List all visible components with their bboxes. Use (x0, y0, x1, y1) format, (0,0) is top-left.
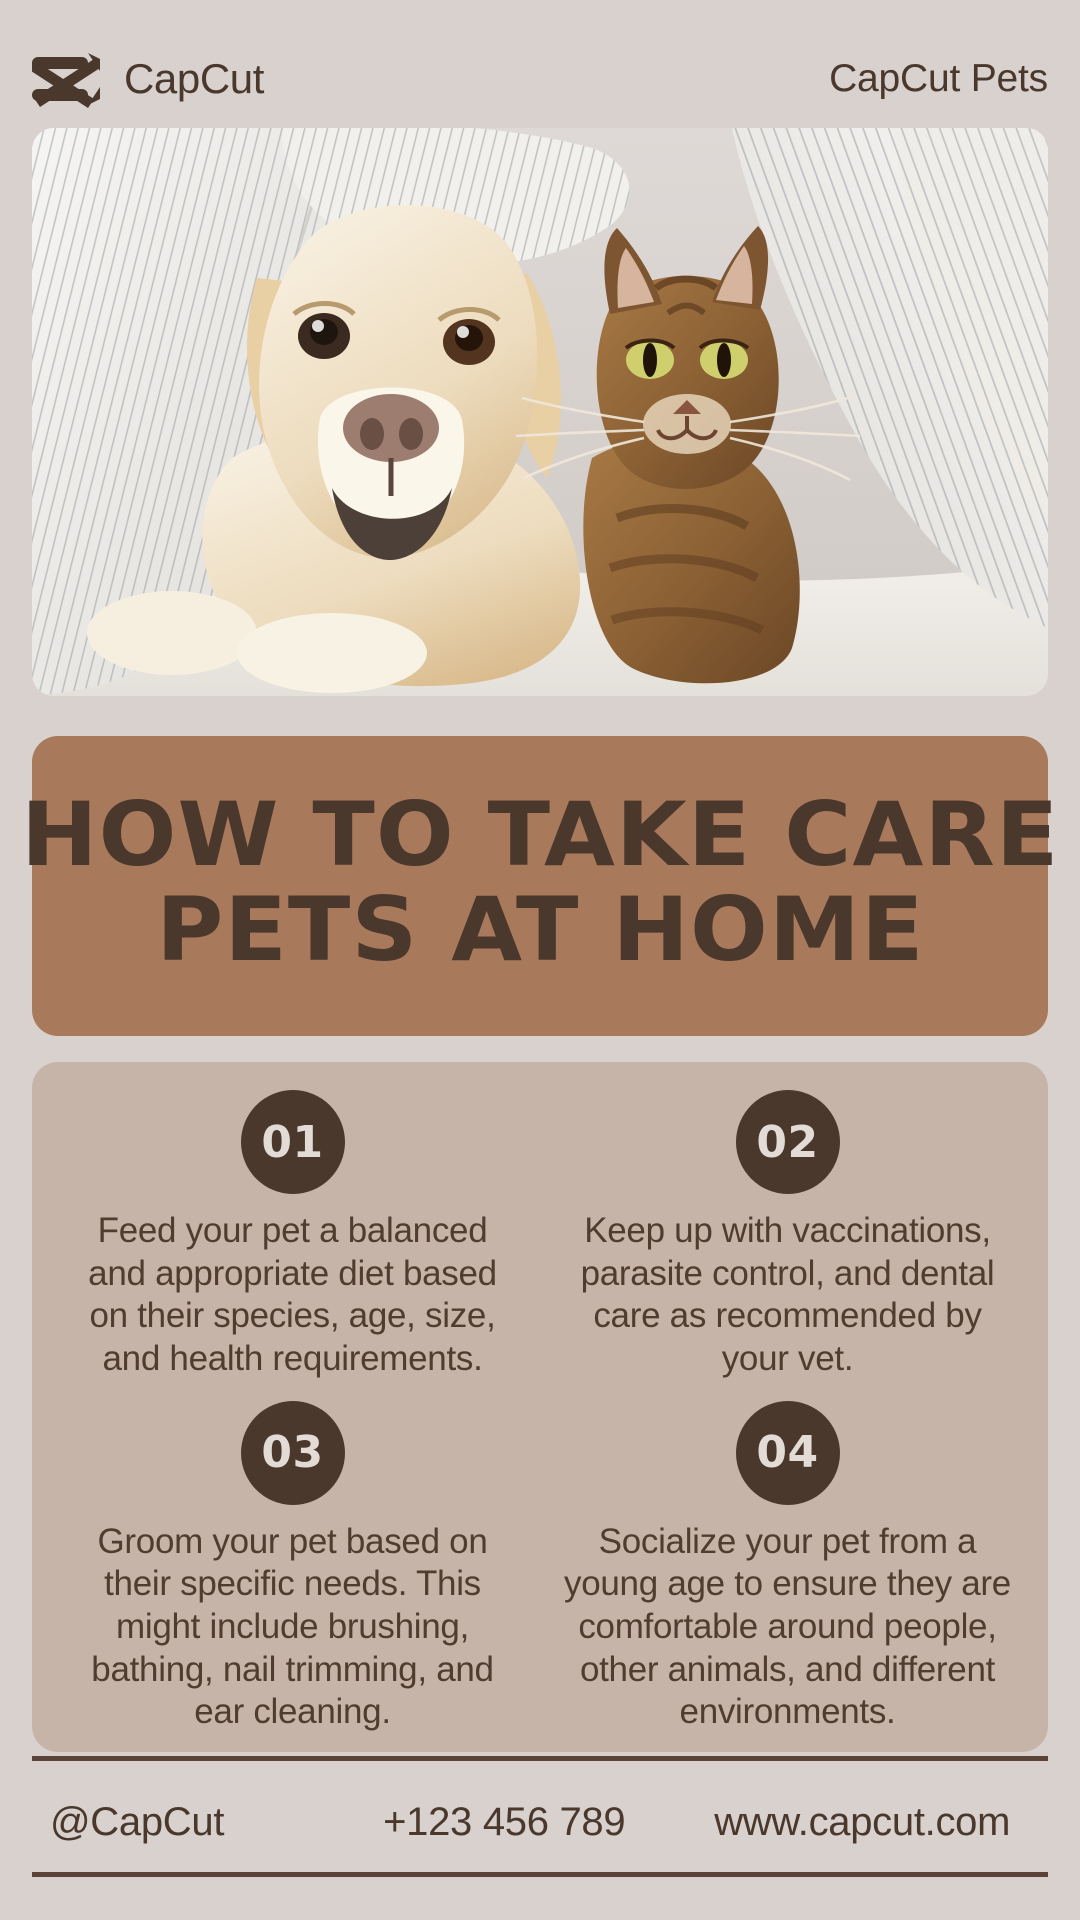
tip-number-badge: 02 (736, 1090, 840, 1194)
tips-card: 01 Feed your pet a balanced and appropri… (32, 1062, 1048, 1752)
infographic-poster: CapCut CapCut Pets (0, 0, 1080, 1920)
hero-photo (32, 128, 1048, 696)
title-banner: HOW TO TAKE CARE PETS AT HOME (32, 736, 1048, 1036)
tip-number-badge: 04 (736, 1401, 840, 1505)
tip-number-badge: 03 (241, 1401, 345, 1505)
brand-name: CapCut (124, 55, 264, 103)
title-line-1: HOW TO TAKE CARE (21, 787, 1059, 882)
tip-item-01: 01 Feed your pet a balanced and appropri… (50, 1090, 535, 1387)
footer-phone[interactable]: +123 456 789 (357, 1800, 682, 1845)
brand[interactable]: CapCut (32, 47, 264, 111)
capcut-logo-icon (32, 47, 104, 111)
tip-number-badge: 01 (241, 1090, 345, 1194)
tip-item-03: 03 Groom your pet based on their specifi… (50, 1401, 535, 1734)
tip-item-02: 02 Keep up with vaccinations, parasite c… (545, 1090, 1030, 1387)
tip-text: Groom your pet based on their specific n… (66, 1521, 519, 1734)
tip-item-04: 04 Socialize your pet from a young age t… (545, 1401, 1030, 1734)
header-right-label: CapCut Pets (829, 57, 1048, 101)
footer-handle[interactable]: @CapCut (32, 1800, 357, 1845)
header: CapCut CapCut Pets (32, 44, 1048, 114)
tip-text: Keep up with vaccinations, parasite cont… (561, 1210, 1014, 1381)
footer-website[interactable]: www.capcut.com (682, 1800, 1048, 1845)
footer-divider-top (32, 1756, 1048, 1761)
tip-text: Socialize your pet from a young age to e… (561, 1521, 1014, 1734)
footer-divider-bottom (32, 1872, 1048, 1877)
title-line-2: PETS AT HOME (156, 882, 924, 977)
tip-text: Feed your pet a balanced and appropriate… (66, 1210, 519, 1381)
footer: @CapCut +123 456 789 www.capcut.com (32, 1780, 1048, 1864)
